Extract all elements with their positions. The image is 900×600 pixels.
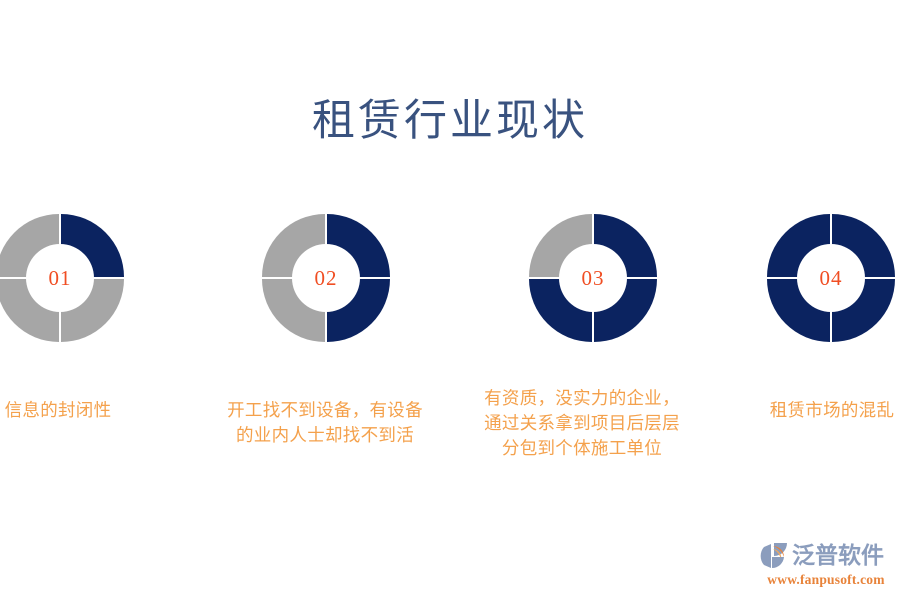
donut-chart-04 bbox=[764, 211, 898, 345]
donut-item-02: 02 bbox=[259, 211, 393, 345]
company-logo: 泛普软件 www.fanpusoft.com bbox=[760, 540, 892, 590]
logo-website-url: www.fanpusoft.com bbox=[760, 572, 892, 588]
caption-04: 租赁市场的混乱 bbox=[712, 398, 900, 423]
logo-company-name: 泛普软件 bbox=[792, 541, 884, 571]
caption-03: 有资质，没实力的企业， 通过关系拿到项目后层层 分包到个体施工单位 bbox=[455, 386, 709, 461]
donut-chart-01 bbox=[0, 211, 127, 345]
page-title: 租赁行业现状 bbox=[0, 96, 900, 148]
caption-02: 开工找不到设备，有设备 的业内人士却找不到活 bbox=[205, 398, 445, 448]
fanpu-logo-icon bbox=[760, 541, 790, 571]
donut-item-03: 03 bbox=[526, 211, 660, 345]
donut-item-04: 04 bbox=[764, 211, 898, 345]
donut-chart-02 bbox=[259, 211, 393, 345]
caption-01: 信息的封闭性 bbox=[0, 398, 178, 423]
donut-item-01: 01 bbox=[0, 211, 127, 345]
slide-canvas: 租赁行业现状 01 信息的封闭性 bbox=[0, 0, 900, 600]
donut-chart-03 bbox=[526, 211, 660, 345]
